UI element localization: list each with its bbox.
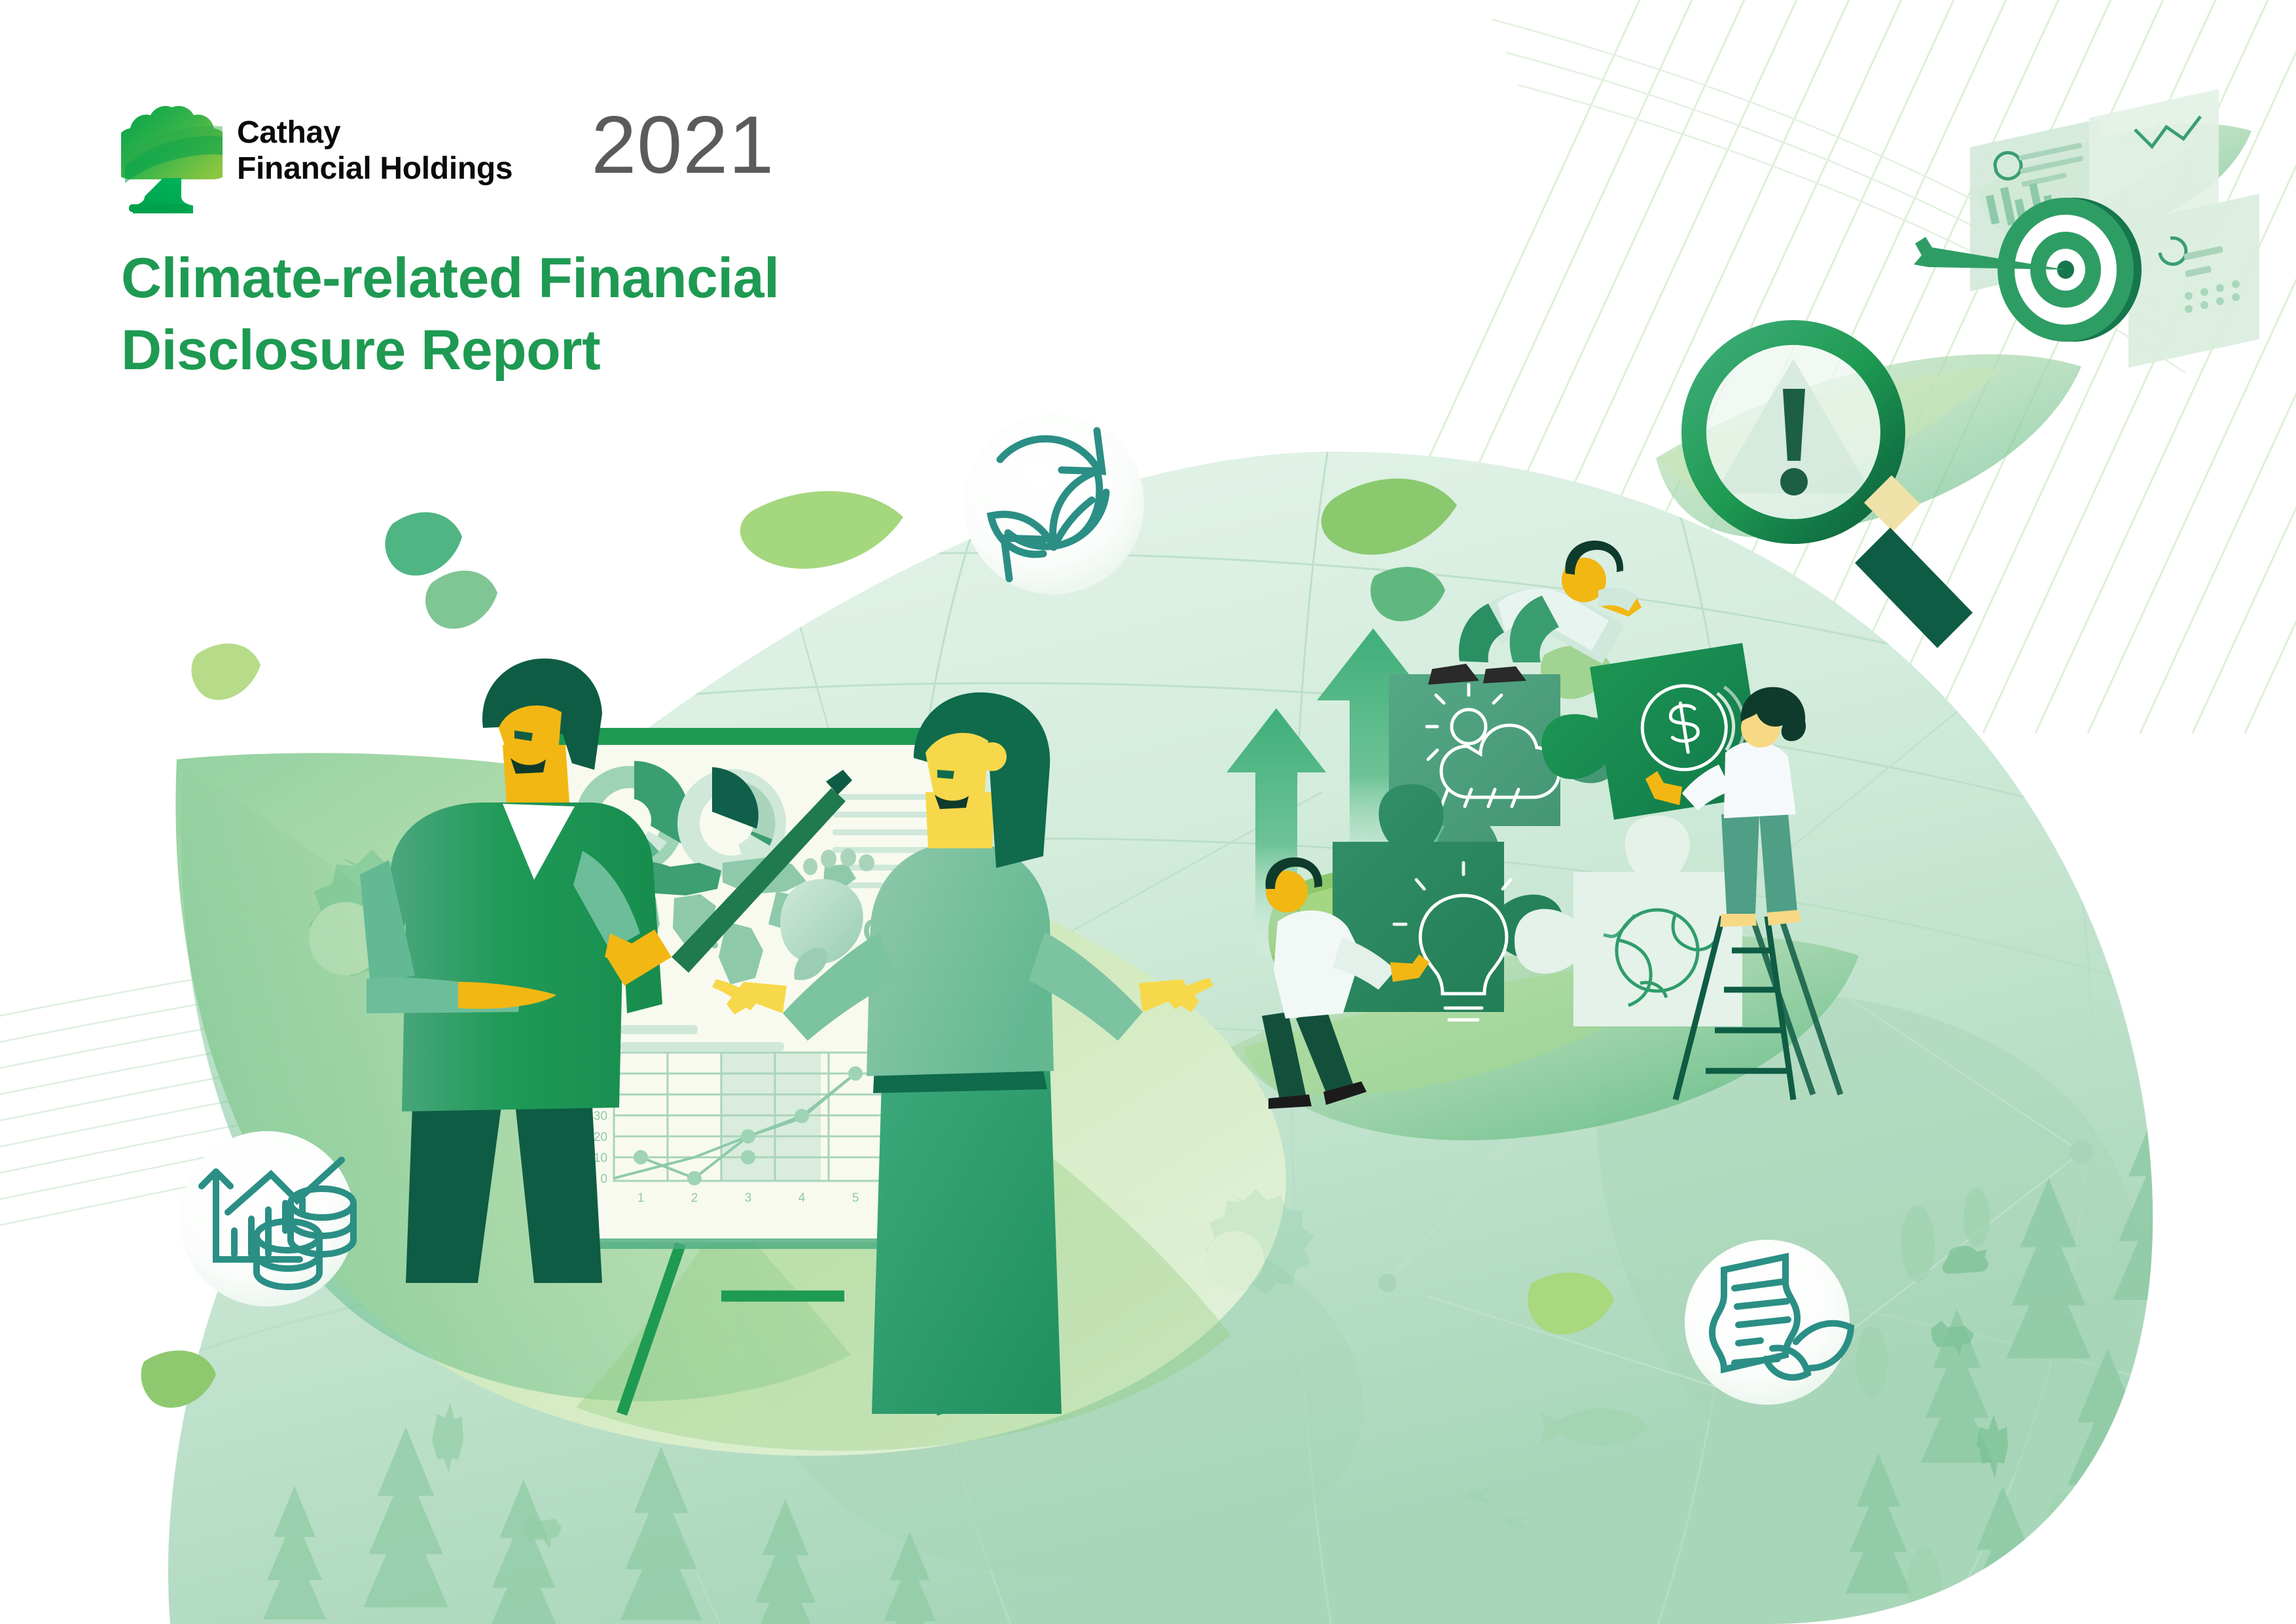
svg-text:30: 30 [594,1110,607,1123]
report-cover: CO 2 [0,0,2296,1624]
svg-text:2: 2 [691,1191,698,1205]
page-title: Climate-related Financial Disclosure Rep… [121,242,779,386]
flipchart-top-bar [541,728,967,745]
brand-row: Cathay Financial Holdings 2021 [121,98,779,213]
svg-text:10: 10 [594,1151,607,1165]
risk-assessment-cluster [1914,89,2259,368]
report-year: 2021 [591,105,774,186]
badge-green-report [1685,1240,1851,1405]
company-name-line2: Financial Holdings [237,151,512,187]
svg-text:1: 1 [637,1191,645,1205]
cover-header: Cathay Financial Holdings 2021 Climate-r… [121,98,779,386]
svg-text:5: 5 [852,1191,859,1205]
page-title-line1: Climate-related Financial [121,242,779,314]
brand-text: Cathay Financial Holdings [237,115,512,187]
page-title-line2: Disclosure Report [121,314,779,386]
badge-renewable-cycle [963,414,1144,594]
svg-text:4: 4 [798,1191,806,1205]
target-arrow-icon [1914,198,2142,342]
tree-logo-icon [121,102,223,213]
company-name-line1: Cathay [237,115,512,151]
svg-text:0: 0 [600,1172,607,1186]
badge-financial-growth [179,1131,355,1307]
svg-text:20: 20 [594,1130,607,1144]
svg-text:3: 3 [745,1191,752,1205]
